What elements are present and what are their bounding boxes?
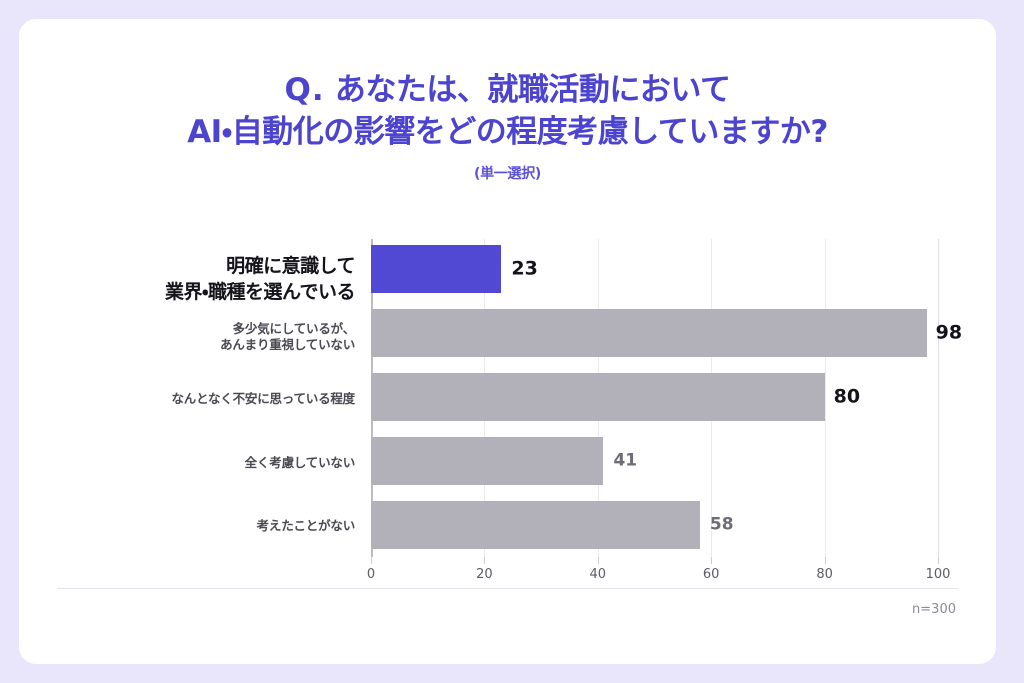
bar-row: 41 <box>371 437 938 485</box>
sample-size-note: n=300 <box>912 602 956 617</box>
page-title-line-2: AI・自動化の影響をどの程度考慮していますか? <box>19 111 996 153</box>
gridline <box>938 239 939 557</box>
page-title-line-1: Q. あなたは、就職活動において <box>19 69 996 111</box>
bar-row: 58 <box>371 501 938 549</box>
bar-segment[interactable] <box>371 245 501 293</box>
bar-value-label: 80 <box>834 388 860 407</box>
page-title-text-1: あなたは、就職活動において <box>335 72 731 108</box>
bar-segment[interactable] <box>371 501 700 549</box>
bar-segment[interactable] <box>371 437 603 485</box>
bar-chart: 明確に意識して 業界・職種を選んでいる 多少気にしているが、 あんまり重視してい… <box>19 227 996 587</box>
x-tick <box>484 557 485 564</box>
bar-segment[interactable] <box>371 309 927 357</box>
x-tick <box>938 557 939 564</box>
category-label: 全く考慮していない <box>245 455 355 471</box>
chart-header: Q. あなたは、就職活動において AI・自動化の影響をどの程度考慮していますか?… <box>19 69 996 183</box>
category-label: 多少気にしているが、 あんまり重視していない <box>220 321 355 353</box>
chart-footer: n=300 <box>57 588 958 628</box>
category-label: 明確に意識して 業界・職種を選んでいる <box>165 253 355 305</box>
x-tick-label: 80 <box>816 567 833 582</box>
category-label: 考えたことがない <box>257 518 355 534</box>
x-tick-label: 40 <box>590 567 607 582</box>
bar-row: 80 <box>371 373 938 421</box>
bar-row: 98 <box>371 309 938 357</box>
bar-value-label: 23 <box>511 260 537 279</box>
x-tick-label: 100 <box>926 567 951 582</box>
question-prefix: Q. <box>284 72 324 108</box>
bar-row: 23 <box>371 245 938 293</box>
chart-card: Q. あなたは、就職活動において AI・自動化の影響をどの程度考慮していますか?… <box>19 19 996 664</box>
bar-segment[interactable] <box>371 373 825 421</box>
x-tick-label: 60 <box>703 567 720 582</box>
x-tick <box>711 557 712 564</box>
x-tick <box>598 557 599 564</box>
category-label-column: 明確に意識して 業界・職種を選んでいる 多少気にしているが、 あんまり重視してい… <box>119 239 371 557</box>
bar-value-label: 98 <box>936 324 962 343</box>
plot-area: 23 98 80 41 58 <box>371 239 938 557</box>
x-tick <box>825 557 826 564</box>
bar-value-label: 58 <box>710 517 734 534</box>
x-axis: 0 20 40 60 80 100 <box>371 557 938 587</box>
footer-divider <box>57 588 958 589</box>
x-tick-label: 20 <box>476 567 493 582</box>
chart-subtitle: (単一選択) <box>19 163 996 183</box>
bar-value-label: 41 <box>613 453 637 470</box>
plot-wrapper: 明確に意識して 業界・職種を選んでいる 多少気にしているが、 あんまり重視してい… <box>119 239 938 559</box>
x-tick <box>371 557 372 564</box>
x-tick-label: 0 <box>367 567 375 582</box>
category-label: なんとなく不安に思っている程度 <box>171 391 355 407</box>
